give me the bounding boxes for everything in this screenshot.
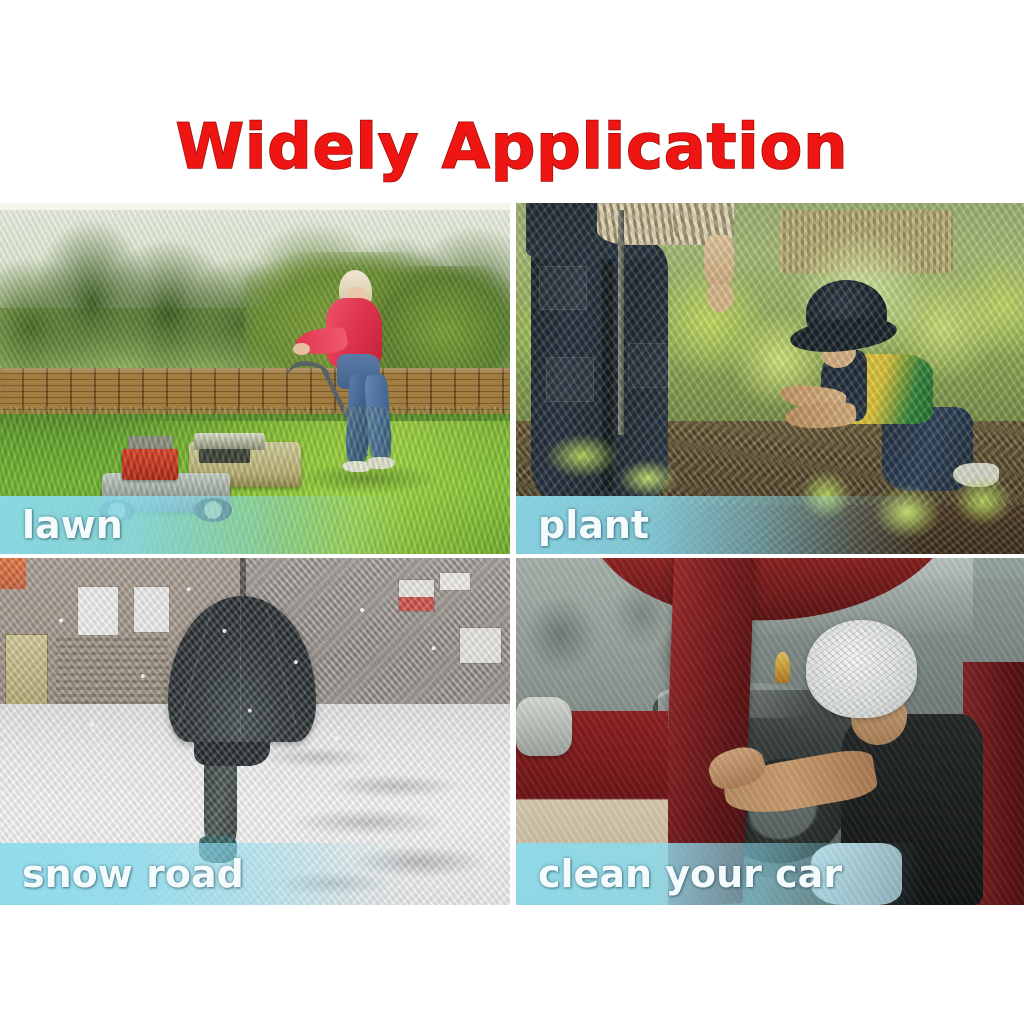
panel-clean-your-car: clean your car	[516, 558, 1024, 905]
page-title: Widely Application	[176, 116, 849, 178]
caption-label-clean-your-car: clean your car	[516, 855, 842, 893]
caption-label-lawn: lawn	[0, 506, 123, 544]
panel-snow-road: snow road	[0, 558, 510, 905]
title-banner: Widely Application	[0, 104, 1024, 190]
caption-label-snow-road: snow road	[0, 855, 244, 893]
caption-band-lawn: lawn	[0, 496, 510, 554]
application-photo-grid: lawn	[0, 203, 1024, 905]
caption-band-plant: plant	[516, 496, 1024, 554]
caption-band-snow-road: snow road	[0, 843, 510, 905]
panel-lawn: lawn	[0, 203, 510, 554]
woman-hand	[293, 343, 309, 355]
caption-label-plant: plant	[516, 506, 649, 544]
panel-plant: plant	[516, 203, 1024, 554]
leaf-texture	[516, 203, 1024, 505]
foliage-texture	[0, 210, 510, 378]
caption-band-clean-your-car: clean your car	[516, 843, 1024, 905]
product-feature-image: Widely Application	[0, 0, 1024, 1024]
